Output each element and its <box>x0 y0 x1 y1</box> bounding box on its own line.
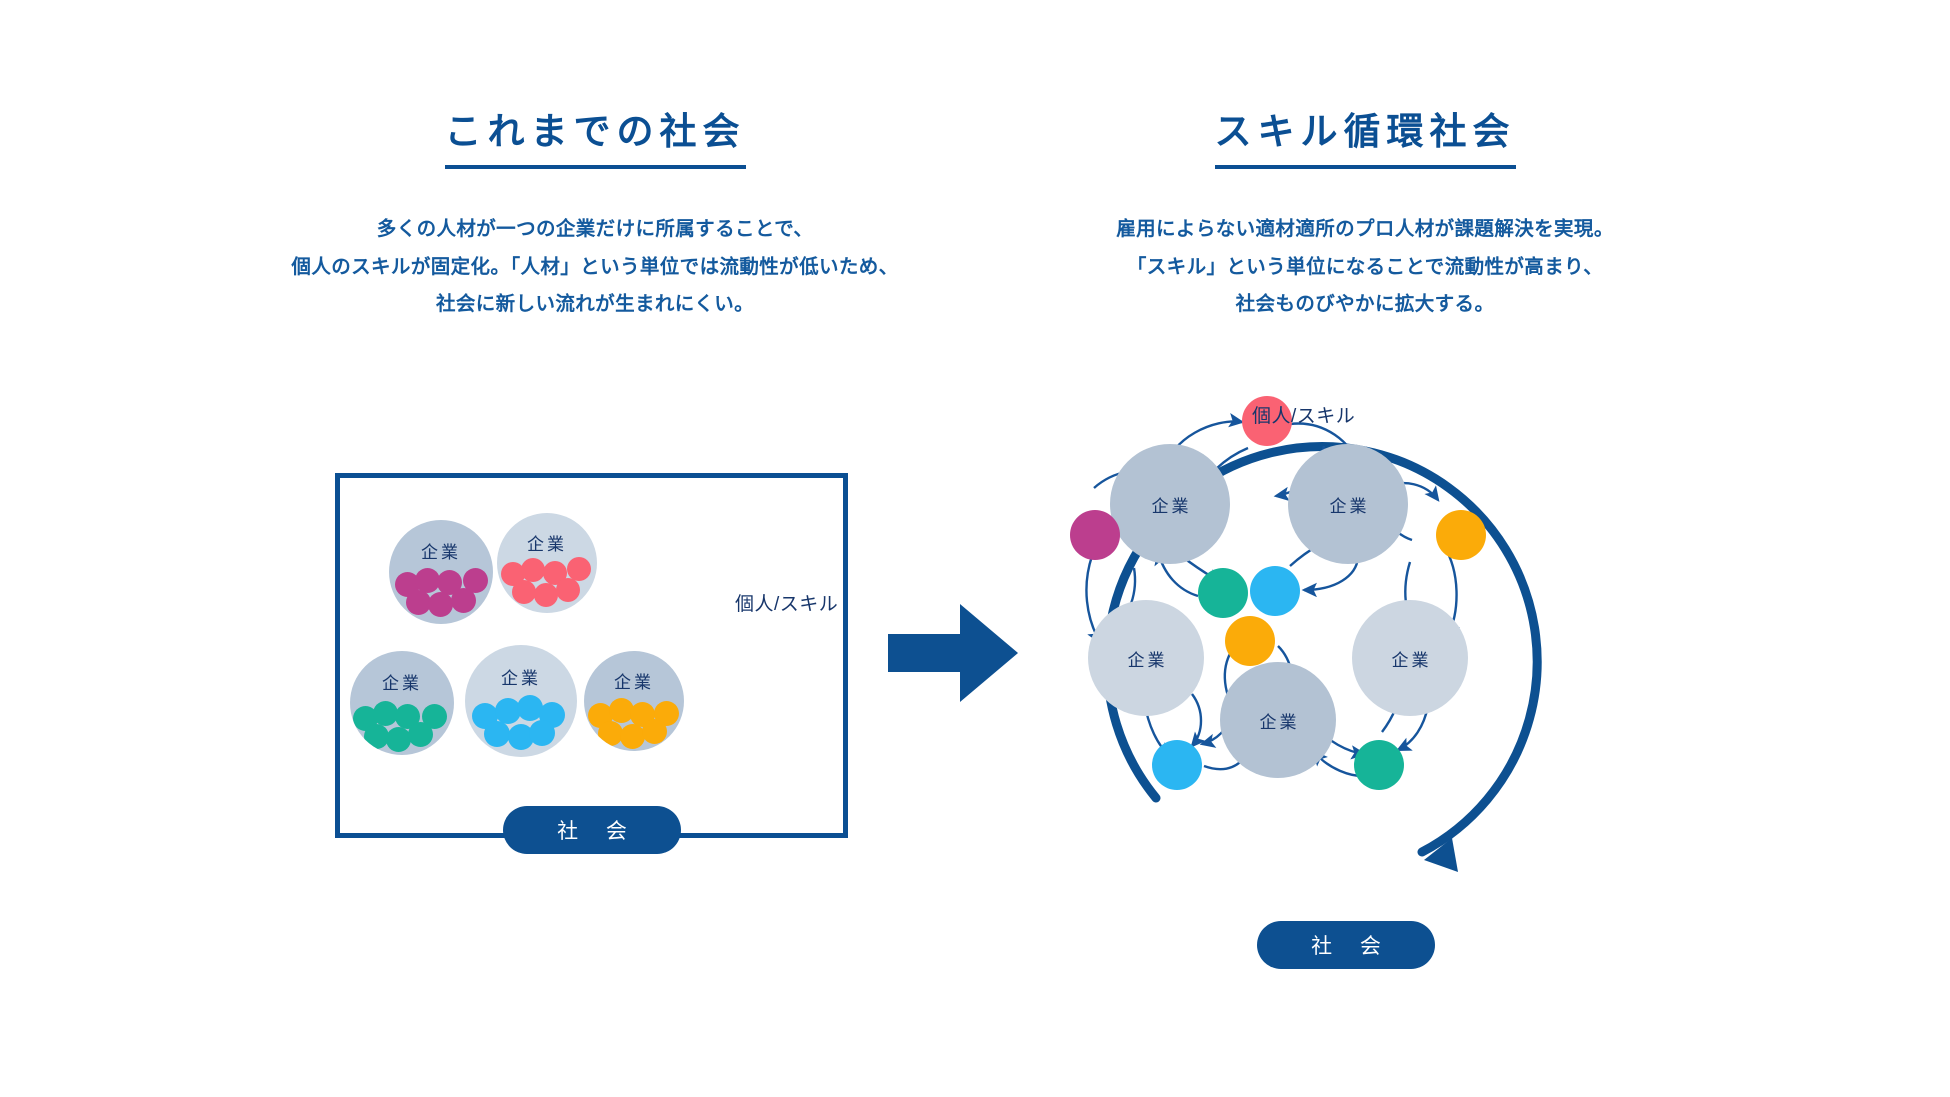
panel-left-description-line-2: 個人のスキルが固定化。「人材」という単位では流動性が低いため、 <box>180 249 1010 286</box>
panel-right-title: スキル循環社会 <box>1215 110 1516 169</box>
right-skill-center-bottom-orange <box>1225 616 1275 666</box>
right-enterprise-lower-left: 企業 <box>1088 600 1204 716</box>
right-enterprise-bottom-center-label: 企業 <box>1257 708 1300 733</box>
panel-left-description-line-3: 社会に新しい流れが生まれにくい。 <box>180 286 1010 323</box>
left-diagram-closed-society: 企業 企業 <box>335 473 848 838</box>
right-skill-left-magenta <box>1070 510 1120 560</box>
panel-right-description: 雇用によらない適材適所のプロ人材が課題解決を実現。 「スキル」という単位になるこ… <box>950 211 1780 323</box>
left-enterprise-1: 企業 <box>389 520 493 624</box>
left-enterprise-4: 企業 <box>465 645 577 757</box>
right-skill-right-orange <box>1436 510 1486 560</box>
panel-left-description-line-1: 多くの人材が一つの企業だけに所属することで、 <box>180 211 1010 248</box>
left-enterprise-2: 企業 <box>497 513 597 613</box>
right-diagram-circulation: 企業 企業 企業 企業 企業 <box>1052 360 1602 910</box>
slide-canvas: これまでの社会 多くの人材が一つの企業だけに所属することで、 個人のスキルが固定… <box>0 0 1950 1097</box>
panel-left-title: これまでの社会 <box>445 110 746 169</box>
right-enterprise-upper-left: 企業 <box>1110 444 1230 564</box>
right-enterprise-lower-left-label: 企業 <box>1125 646 1168 671</box>
right-enterprise-upper-right: 企業 <box>1288 444 1408 564</box>
panel-right-description-line-2: 「スキル」という単位になることで流動性が高まり、 <box>950 249 1780 286</box>
right-enterprise-lower-right-label: 企業 <box>1389 646 1432 671</box>
right-skill-center-blue <box>1250 566 1300 616</box>
right-enterprise-lower-right: 企業 <box>1352 600 1468 716</box>
right-arrow-icon <box>888 598 1020 708</box>
left-enterprise-5-skill-dots <box>584 651 684 751</box>
right-skill-center-teal <box>1198 568 1248 618</box>
panel-skill-circulation-society: スキル循環社会 雇用によらない適材適所のプロ人材が課題解決を実現。 「スキル」と… <box>950 110 1780 324</box>
right-skill-label: 個人/スキル <box>1252 401 1355 428</box>
right-society-badge: 社 会 <box>1257 921 1435 969</box>
panel-left-description: 多くの人材が一つの企業だけに所属することで、 個人のスキルが固定化。「人材」とい… <box>180 211 1010 323</box>
left-enterprise-3-skill-dots <box>350 651 454 755</box>
left-enterprise-3: 企業 <box>350 651 454 755</box>
right-enterprise-upper-left-label: 企業 <box>1149 492 1192 517</box>
left-enterprise-5: 企業 <box>584 651 684 751</box>
panel-right-description-line-3: 社会ものびやかに拡大する。 <box>950 286 1780 323</box>
right-skill-bottom-left-blue <box>1152 740 1202 790</box>
panel-right-description-line-1: 雇用によらない適材適所のプロ人材が課題解決を実現。 <box>950 211 1780 248</box>
right-enterprise-bottom-center: 企業 <box>1220 662 1336 778</box>
left-enterprise-4-skill-dots <box>465 645 577 757</box>
left-society-badge: 社 会 <box>503 806 681 854</box>
left-enterprise-2-skill-dots <box>497 513 597 613</box>
panel-previous-society: これまでの社会 多くの人材が一つの企業だけに所属することで、 個人のスキルが固定… <box>180 110 1010 324</box>
right-enterprise-upper-right-label: 企業 <box>1327 492 1370 517</box>
left-skill-label: 個人/スキル <box>735 589 838 616</box>
right-skill-bottom-right-teal <box>1354 740 1404 790</box>
left-enterprise-1-skill-dots <box>389 520 493 624</box>
